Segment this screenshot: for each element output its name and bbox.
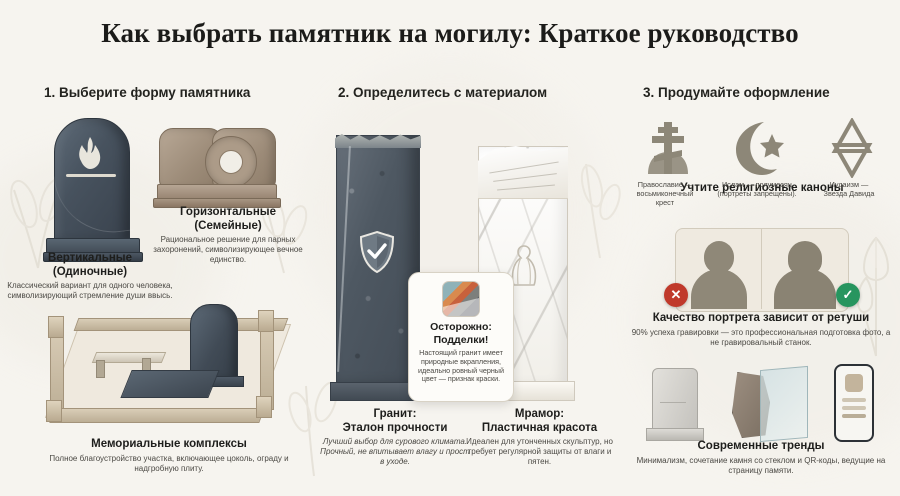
stone-glass-icon xyxy=(730,368,810,442)
complex-post xyxy=(48,316,64,338)
caption-desc: Лучший выбор для сурового климата. Прочн… xyxy=(320,437,470,467)
column-header-1: 1. Выберите форму памятника xyxy=(44,85,250,100)
avatar xyxy=(845,374,863,392)
caption-title-line2: (Одиночные) xyxy=(6,266,174,280)
complex-rail xyxy=(74,318,289,331)
text-line xyxy=(842,406,866,410)
caption-line: Православие — xyxy=(622,180,708,189)
religion-caption-orthodox: Православие — восьмиконечный крест xyxy=(622,180,708,207)
caption-granite: Гранит: Эталон прочности Лучший выбор дл… xyxy=(320,408,470,467)
caption-horizontal: Горизонтальные (Семейные) Рациональное р… xyxy=(148,206,308,265)
caption-trends: Современные тренды Минимализм, сочетание… xyxy=(630,440,892,476)
horizontal-monument-illustration xyxy=(157,128,279,210)
religion-caption-judaism: Иудаизм — Звезда Давида xyxy=(806,180,892,198)
block-title: Качество портрета зависит от ретуши xyxy=(630,312,892,326)
caption-title-line1: Горизонтальные xyxy=(148,206,308,220)
complex-headstone xyxy=(190,304,238,380)
caption-title-line1: Гранит: xyxy=(320,408,470,422)
infographic-page: Как выбрать памятник на могилу: Краткое … xyxy=(0,0,900,496)
flame-engraving-icon xyxy=(76,136,104,170)
caption-desc: Идеален для утонченных скульптур, но тре… xyxy=(462,437,617,467)
cross-mark-icon: ✕ xyxy=(664,283,688,307)
caption-line: (портреты запрещены). xyxy=(714,189,800,198)
counterfeit-warning-card: Осторожно: Подделки! Настоящий гранит им… xyxy=(408,272,514,402)
complex-post xyxy=(256,396,272,418)
caption-line: Звезда Давида xyxy=(806,189,892,198)
orthodox-cross-icon xyxy=(638,118,698,178)
caption-line: Ислам — полумесяц xyxy=(714,180,800,189)
caption-desc: Рациональное решение для парных захороне… xyxy=(148,235,308,265)
caption-title-line2: Эталон прочности xyxy=(320,422,470,436)
religious-symbols-row xyxy=(634,118,890,180)
column-header-3: 3. Продумайте оформление xyxy=(643,85,830,100)
page-title: Как выбрать памятник на могилу: Краткое … xyxy=(0,18,900,49)
caption-title-line2: (Семейные) xyxy=(148,220,308,234)
block-title: Современные тренды xyxy=(630,440,892,454)
text-line xyxy=(842,398,866,402)
crescent-moon-star-icon xyxy=(730,118,790,178)
warning-title-line2: Подделки! xyxy=(409,334,513,347)
check-mark-icon: ✓ xyxy=(836,283,860,307)
shield-check-icon xyxy=(358,230,396,274)
engraving-line xyxy=(66,174,116,177)
caption-desc: Классический вариант для одного человека… xyxy=(6,281,174,301)
caption-title-line1: Мрамор: xyxy=(462,408,617,422)
glass-panel xyxy=(760,366,808,442)
caption-complex: Мемориальные комплексы Полное благоустро… xyxy=(34,438,304,474)
religion-caption-islam: Ислам — полумесяц (портреты запрещены). xyxy=(714,180,800,198)
block-desc: 90% успеха гравировки — это профессионал… xyxy=(630,328,892,348)
bench-leg xyxy=(96,360,105,378)
star-of-david-icon xyxy=(822,118,882,178)
column-header-2: 2. Определитесь с материалом xyxy=(338,85,547,100)
caption-line: восьмиконечный xyxy=(622,189,708,198)
complex-rail xyxy=(49,408,264,423)
caption-title-line1: Мемориальные комплексы xyxy=(34,438,304,452)
caption-line: крест xyxy=(622,198,708,207)
complex-post xyxy=(258,310,274,332)
caption-title-line2: Пластичная красота xyxy=(462,422,617,436)
minimal-stone-icon xyxy=(646,368,704,442)
portrait-female-silhouette xyxy=(762,229,847,309)
silhouette-body xyxy=(691,269,747,309)
caption-marble: Мрамор: Пластичная красота Идеален для у… xyxy=(462,408,617,467)
warning-desc: Настоящий гранит имеет природные вкрапле… xyxy=(409,349,513,384)
stone-line xyxy=(660,402,686,403)
block-desc: Минимализм, сочетание камня со стеклом и… xyxy=(630,456,892,476)
vertical-monument-illustration xyxy=(46,118,141,263)
complex-post xyxy=(46,400,62,422)
phone-memory-page-icon xyxy=(834,364,872,442)
granite-vein xyxy=(337,146,351,372)
text-line xyxy=(842,414,866,418)
caption-line: Иудаизм — xyxy=(806,180,892,189)
caption-desc: Полное благоустройство участка, включающ… xyxy=(34,454,304,474)
portrait-panel xyxy=(675,228,849,312)
paint-swatch-icon xyxy=(442,281,480,317)
phone-body xyxy=(834,364,874,442)
silhouette-body xyxy=(774,269,836,309)
warning-title-line1: Осторожно: xyxy=(409,321,513,334)
portrait-male-silhouette xyxy=(676,229,762,309)
complex-grave-slab xyxy=(120,370,219,398)
monument-ring-hole xyxy=(219,150,243,174)
stone-body xyxy=(652,368,698,432)
caption-portrait: Качество портрета зависит от ретуши 90% … xyxy=(630,312,892,348)
leaf-decoration-icon xyxy=(574,140,626,265)
memorial-complex-illustration xyxy=(38,300,306,432)
